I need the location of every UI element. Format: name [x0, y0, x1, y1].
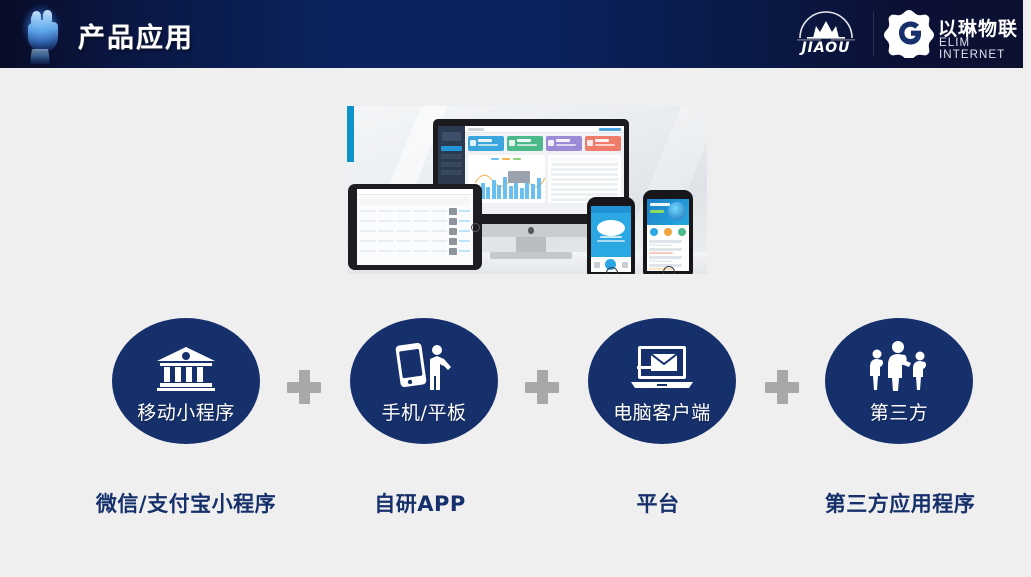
- channel-label-app: 自研APP: [300, 488, 540, 518]
- channel-caption: 第三方: [870, 398, 929, 425]
- channel-label-platform: 平台: [538, 488, 778, 518]
- channel-caption: 电脑客户端: [613, 398, 711, 425]
- page-title: 产品应用: [78, 16, 194, 55]
- elim-logo-en: ELIM INTERNET: [939, 37, 1022, 61]
- jiaou-logo-text: JIAOU: [789, 40, 863, 56]
- tablet-device: [348, 184, 482, 270]
- application-channels-row: 移动小程序 手机/平板: [0, 318, 1031, 446]
- channel-labels-row: 微信/支付宝小程序 自研APP 平台 第三方应用程序: [0, 488, 1031, 524]
- plus-separator-1: [287, 370, 321, 404]
- channel-node-mini-program[interactable]: 移动小程序: [112, 318, 260, 444]
- channel-label-third-party: 第三方应用程序: [780, 488, 1020, 518]
- raised-fist-icon: [10, 0, 72, 68]
- phone-list-view: [643, 190, 693, 274]
- plus-separator-2: [525, 370, 559, 404]
- laptop-mail-icon: [629, 338, 695, 392]
- hex-g-icon: [884, 8, 934, 58]
- phone-person-icon: [393, 338, 455, 392]
- multi-device-dashboard-mockup: [347, 106, 707, 274]
- channel-node-app[interactable]: 手机/平板: [350, 318, 498, 444]
- mockup-accent-bar: [347, 106, 354, 162]
- jiaou-logo: JIAOU: [789, 9, 863, 59]
- sun-arc-icon: [789, 9, 863, 41]
- plus-separator-3: [765, 370, 799, 404]
- channel-caption: 手机/平板: [382, 398, 467, 425]
- three-people-icon: [863, 338, 935, 392]
- apple-logo-icon: [528, 227, 534, 234]
- header-right-cap: [1023, 0, 1031, 68]
- page-header: 产品应用 JIAOU 以琳物联 ELIM INTERNET: [0, 0, 1031, 68]
- tablet-table-screen: [357, 189, 473, 265]
- channel-caption: 移动小程序: [137, 398, 235, 425]
- bank-building-icon: [155, 338, 217, 392]
- elim-logo: 以琳物联 ELIM INTERNET: [884, 8, 1022, 60]
- channel-node-third-party[interactable]: 第三方: [825, 318, 973, 444]
- dashboard-stat-cards: [468, 136, 621, 151]
- channel-label-mini-program: 微信/支付宝小程序: [66, 488, 306, 518]
- logo-divider: [873, 12, 874, 56]
- phone-blue-home: [587, 197, 635, 274]
- channel-node-desktop[interactable]: 电脑客户端: [588, 318, 736, 444]
- dashboard-table: [548, 155, 621, 203]
